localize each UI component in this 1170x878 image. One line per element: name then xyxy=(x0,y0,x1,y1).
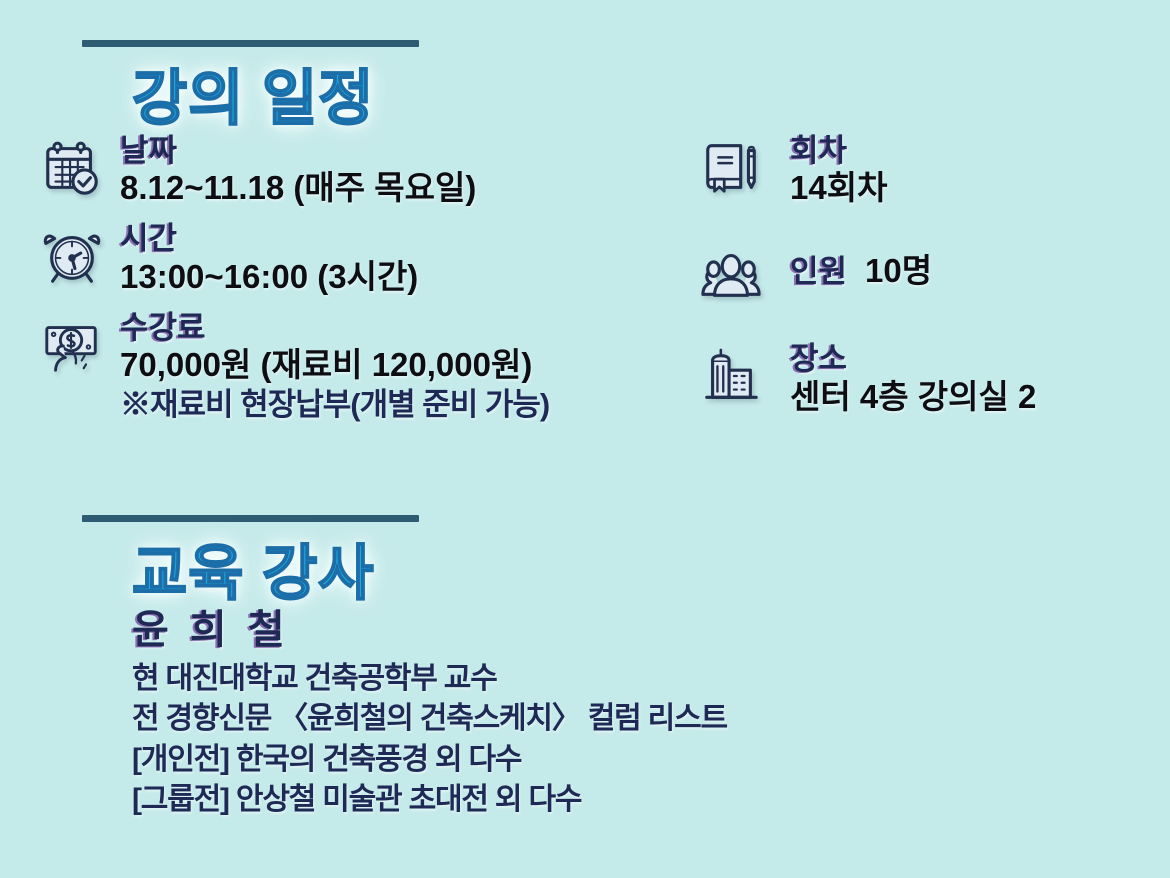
poster-root: 강의 일정 xyxy=(0,0,1170,878)
schedule-section-title: 강의 일정 xyxy=(132,50,374,137)
buildings-icon xyxy=(694,340,768,412)
calendar-check-icon xyxy=(36,132,108,204)
value-date: 8.12~11.18 (매주 목요일) xyxy=(120,169,676,208)
instructor-name: 윤 희 철 xyxy=(132,606,1032,655)
info-row-time: 시간 13:00~16:00 (3시간) xyxy=(36,220,676,296)
alarm-clock-icon xyxy=(36,220,108,292)
info-body-date: 날짜 8.12~11.18 (매주 목요일) xyxy=(120,132,676,208)
label-time: 시간 xyxy=(120,222,676,255)
label-sessions: 회차 xyxy=(790,134,1154,167)
instructor-section-title: 교육 강사 xyxy=(132,525,374,612)
value-time: 13:00~16:00 (3시간) xyxy=(120,258,676,297)
info-body-fee: 수강료 70,000원 (재료비 120,000원) ※재료비 현장납부(개별 … xyxy=(120,309,676,424)
info-row-date: 날짜 8.12~11.18 (매주 목요일) xyxy=(36,132,676,208)
label-fee: 수강료 xyxy=(120,311,676,344)
label-location: 장소 xyxy=(790,342,1154,375)
money-hand-icon xyxy=(36,309,108,381)
credential-line: [그룹전] 안상철 미술관 초대전 외 다수 xyxy=(132,780,1032,821)
info-row-sessions: 회차 14회차 xyxy=(694,132,1154,208)
schedule-divider xyxy=(82,40,419,47)
value-location: 센터 4층 강의실 2 xyxy=(790,378,1154,417)
people-group-icon xyxy=(694,238,768,310)
info-row-location: 장소 센터 4층 강의실 2 xyxy=(694,340,1154,416)
label-date: 날짜 xyxy=(120,134,676,167)
info-body-time: 시간 13:00~16:00 (3시간) xyxy=(120,220,676,296)
info-body-location: 장소 센터 4층 강의실 2 xyxy=(780,340,1154,416)
info-row-capacity: 인원 10명 xyxy=(694,238,1154,310)
schedule-right-column: 회차 14회차 인원 10명 xyxy=(694,132,1154,447)
book-pencil-icon xyxy=(694,132,768,204)
value-sessions: 14회차 xyxy=(790,169,1154,208)
info-body-sessions: 회차 14회차 xyxy=(780,132,1154,208)
value-fee-note: ※재료비 현장납부(개별 준비 가능) xyxy=(120,387,676,424)
info-row-fee: 수강료 70,000원 (재료비 120,000원) ※재료비 현장납부(개별 … xyxy=(36,309,676,424)
instructor-credentials: 현 대진대학교 건축공학부 교수 전 경향신문 〈윤희철의 건축스케치〉 컬럼 … xyxy=(132,659,1032,821)
instructor-block: 윤 희 철 현 대진대학교 건축공학부 교수 전 경향신문 〈윤희철의 건축스케… xyxy=(132,606,1032,821)
credential-line: 전 경향신문 〈윤희철의 건축스케치〉 컬럼 리스트 xyxy=(132,699,1032,740)
info-body-capacity: 인원 10명 xyxy=(780,238,1154,291)
value-fee: 70,000원 (재료비 120,000원) xyxy=(120,346,676,385)
label-capacity: 인원 xyxy=(790,255,847,288)
value-capacity: 10명 xyxy=(865,252,932,291)
instructor-divider xyxy=(82,515,419,522)
schedule-left-column: 날짜 8.12~11.18 (매주 목요일) xyxy=(36,132,676,436)
credential-line: 현 대진대학교 건축공학부 교수 xyxy=(132,659,1032,700)
credential-line: [개인전] 한국의 건축풍경 외 다수 xyxy=(132,740,1032,781)
